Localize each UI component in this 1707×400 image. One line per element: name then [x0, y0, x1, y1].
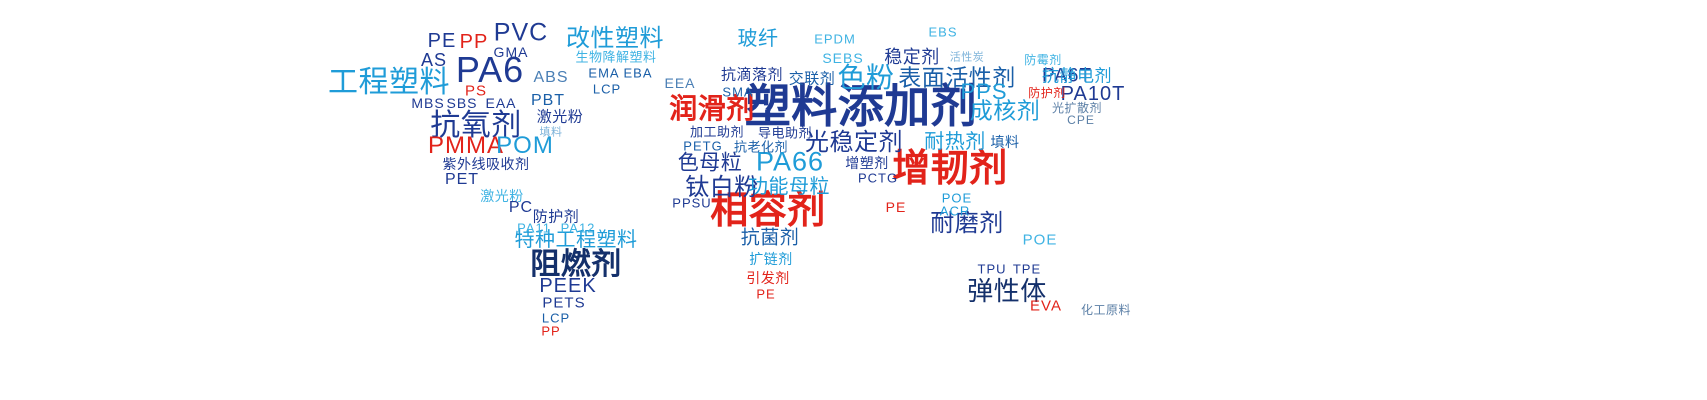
- cloud-word[interactable]: ACR: [940, 205, 970, 218]
- cloud-word[interactable]: TPE: [1013, 263, 1041, 276]
- cloud-word[interactable]: 玻纤: [738, 29, 779, 49]
- cloud-word[interactable]: PMMA: [428, 134, 504, 158]
- cloud-word[interactable]: GMA: [494, 45, 529, 59]
- cloud-word[interactable]: PCTG: [858, 172, 898, 185]
- cloud-word[interactable]: 色母粒: [678, 153, 743, 174]
- cloud-word[interactable]: 化工原料: [1081, 304, 1131, 316]
- cloud-word[interactable]: 抗滴落剂: [721, 68, 783, 83]
- cloud-word[interactable]: AS: [421, 51, 447, 69]
- cloud-word[interactable]: EMA: [588, 67, 619, 80]
- cloud-word[interactable]: CPE: [1067, 114, 1095, 126]
- cloud-word[interactable]: PVC: [494, 21, 548, 46]
- cloud-word[interactable]: 改性塑料: [566, 27, 664, 51]
- cloud-word[interactable]: PE: [886, 200, 907, 214]
- cloud-word[interactable]: 增韧剂: [892, 150, 1008, 188]
- cloud-word[interactable]: 抗静电剂: [1042, 68, 1112, 85]
- cloud-word[interactable]: 抗老化剂: [734, 141, 788, 154]
- cloud-word[interactable]: EEA: [664, 76, 695, 90]
- cloud-word[interactable]: 色粉: [837, 64, 894, 92]
- cloud-word[interactable]: PET: [445, 172, 479, 188]
- cloud-word[interactable]: SEBS: [822, 51, 863, 65]
- cloud-word[interactable]: PP: [541, 325, 560, 338]
- cloud-word[interactable]: 稳定剂: [884, 48, 940, 66]
- cloud-word[interactable]: 填料: [991, 135, 1020, 149]
- cloud-word[interactable]: 功能母粒: [748, 177, 830, 197]
- cloud-word[interactable]: PC: [509, 200, 533, 216]
- cloud-word[interactable]: PE: [756, 288, 775, 301]
- cloud-word[interactable]: 防霉剂: [1024, 54, 1062, 66]
- cloud-word[interactable]: 防护剂: [1028, 87, 1066, 99]
- cloud-word[interactable]: 增塑剂: [845, 156, 889, 170]
- cloud-word[interactable]: 光稳定剂: [805, 131, 903, 155]
- cloud-word[interactable]: 加工助剂: [690, 126, 744, 139]
- cloud-word[interactable]: POE: [1023, 233, 1058, 248]
- cloud-word[interactable]: PETG: [683, 140, 722, 153]
- cloud-word[interactable]: 填料: [540, 128, 563, 139]
- cloud-word[interactable]: PA12: [561, 222, 596, 235]
- cloud-word[interactable]: SBS: [446, 96, 477, 110]
- cloud-word[interactable]: EBS: [928, 26, 957, 39]
- cloud-word[interactable]: 交联剂: [789, 72, 836, 87]
- cloud-word[interactable]: 抗菌剂: [741, 229, 800, 248]
- cloud-word[interactable]: 生物降解塑料: [575, 51, 656, 64]
- cloud-word[interactable]: PEEK: [539, 276, 596, 296]
- cloud-word[interactable]: 工程塑料: [328, 68, 450, 98]
- cloud-word[interactable]: EBA: [623, 67, 652, 80]
- cloud-word[interactable]: EPDM: [814, 33, 856, 46]
- cloud-word[interactable]: PETS: [542, 296, 585, 311]
- cloud-word[interactable]: 导电助剂: [758, 127, 812, 140]
- cloud-word[interactable]: EVA: [1030, 299, 1062, 314]
- cloud-word[interactable]: 扩链剂: [749, 252, 793, 266]
- word-cloud-canvas: 塑料添加剂增韧剂相容剂工程塑料抗氧剂阻燃剂润滑剂PA6色粉PA66光稳定剂表面活…: [0, 0, 1707, 400]
- cloud-word[interactable]: LCP: [593, 83, 621, 96]
- cloud-word[interactable]: 紫外线吸收剂: [443, 157, 530, 171]
- cloud-word[interactable]: ABS: [533, 70, 568, 86]
- cloud-word[interactable]: PBT: [531, 93, 565, 109]
- cloud-word[interactable]: TPU: [978, 263, 1007, 276]
- cloud-word[interactable]: PPS: [960, 81, 1007, 103]
- cloud-word[interactable]: PA11: [517, 222, 551, 235]
- cloud-word[interactable]: 活性炭: [950, 53, 985, 64]
- cloud-word[interactable]: 引发剂: [746, 271, 790, 285]
- cloud-word[interactable]: EAA: [485, 96, 516, 110]
- cloud-word[interactable]: PP: [460, 32, 489, 52]
- cloud-word[interactable]: 激光粉: [537, 110, 584, 125]
- cloud-word[interactable]: MBS: [411, 96, 444, 110]
- cloud-word[interactable]: SMA: [722, 86, 753, 99]
- cloud-word[interactable]: 耐热剂: [924, 132, 986, 152]
- cloud-word[interactable]: PPSU: [672, 197, 711, 210]
- cloud-word[interactable]: PE: [428, 31, 457, 51]
